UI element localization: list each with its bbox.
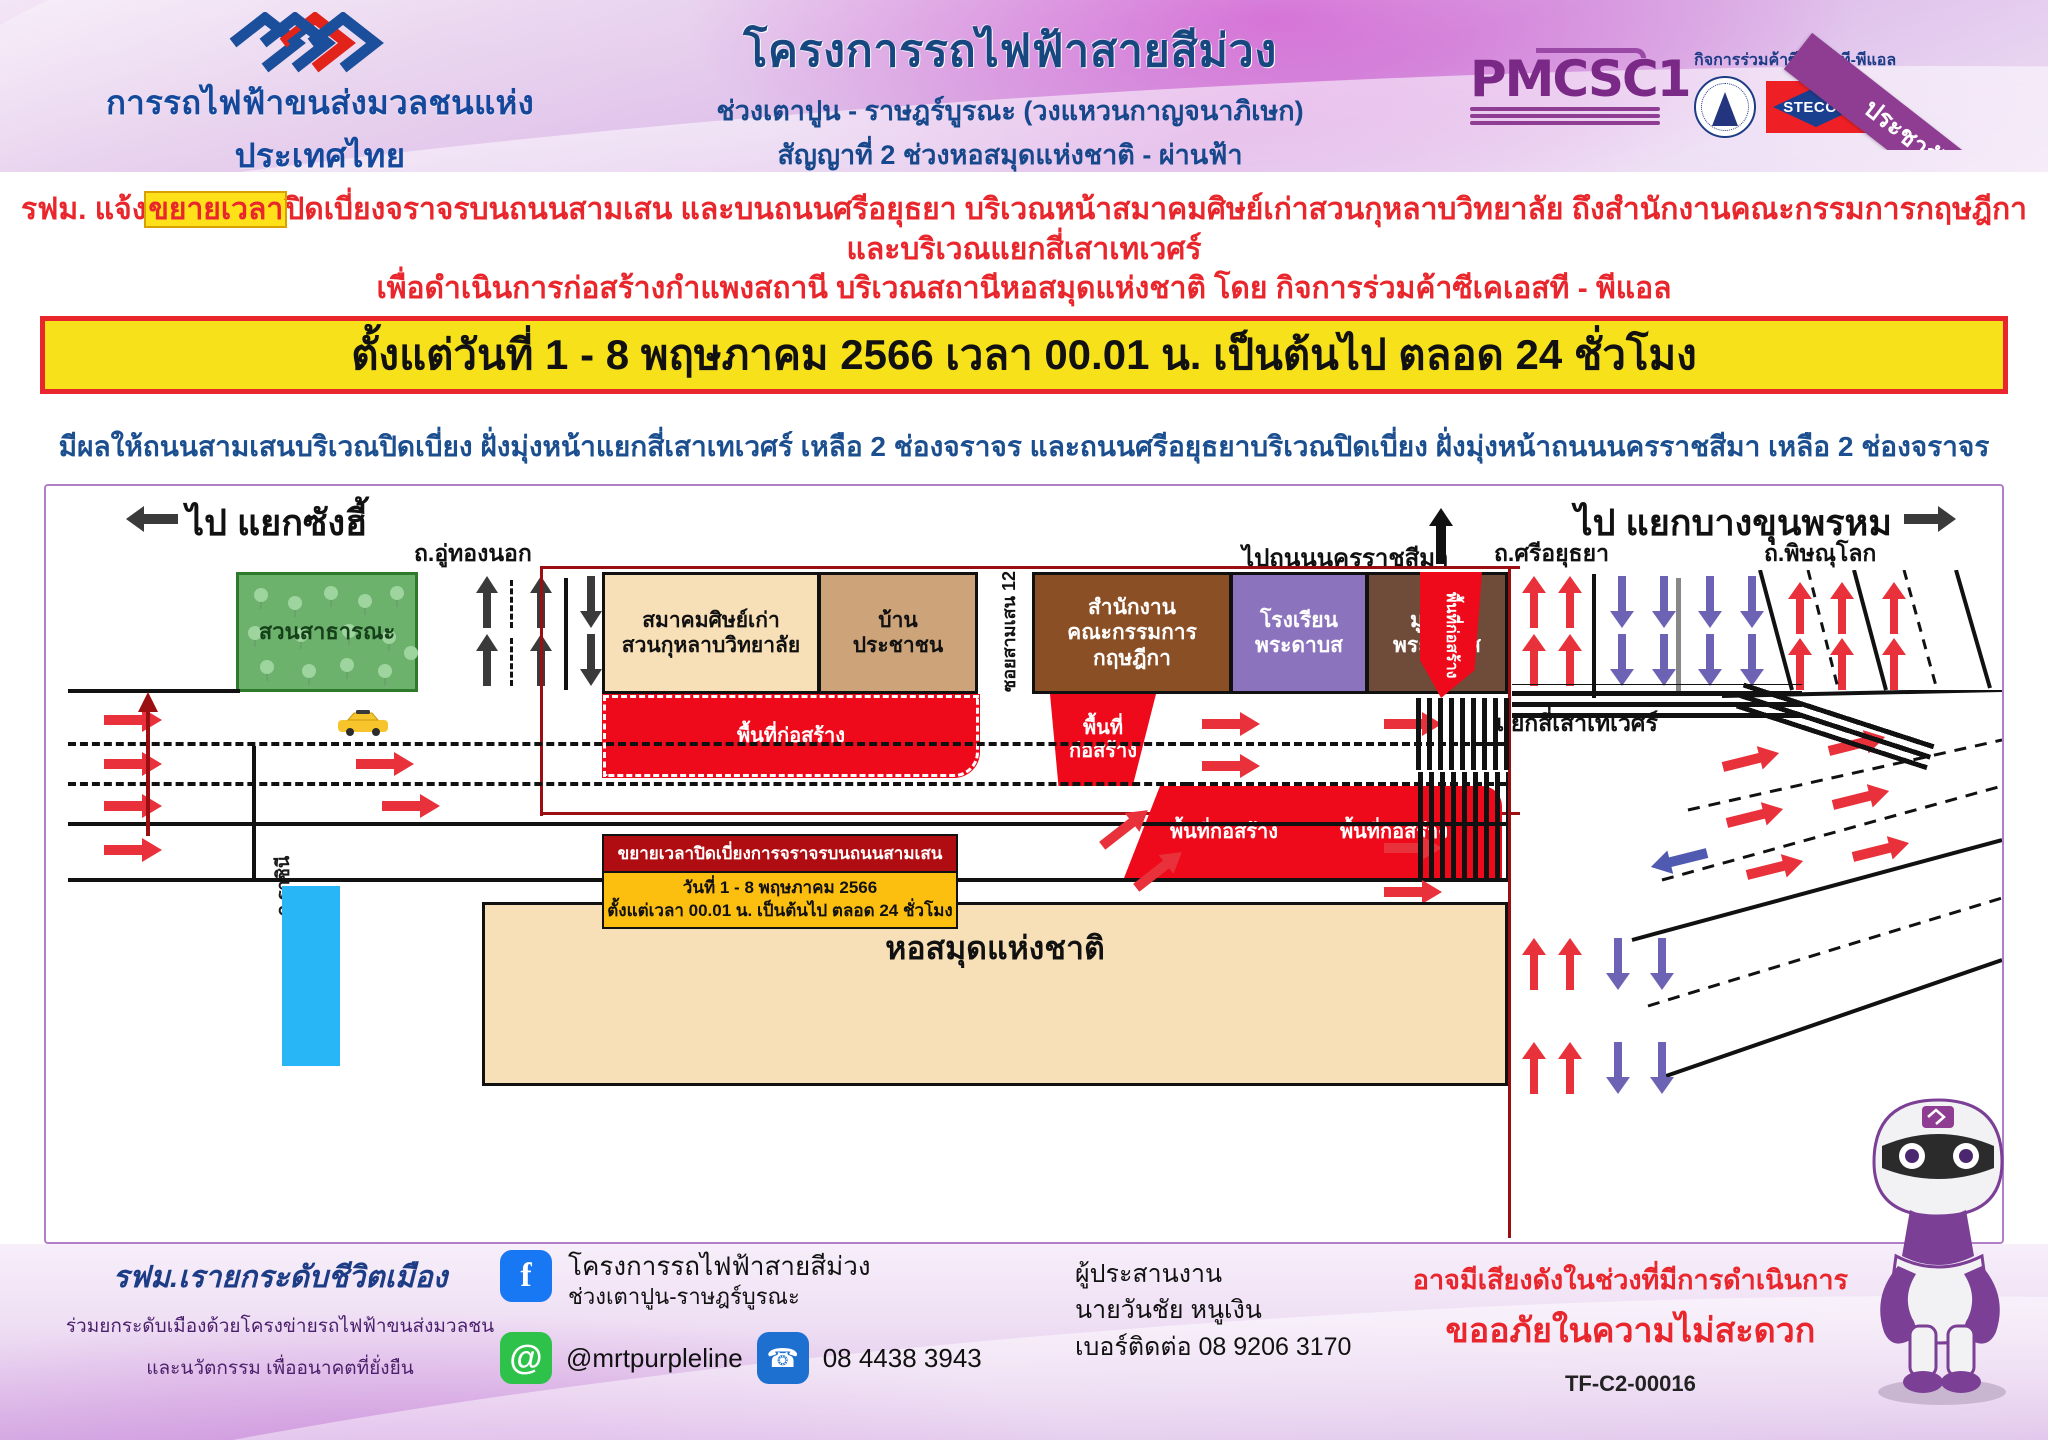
ratwithi-arrow-down-4 [1650, 1042, 1674, 1094]
crosswalk-4 [1418, 772, 1508, 880]
sriayutthaya-island [1676, 578, 1681, 692]
uthong-lane-divider-2 [510, 638, 513, 686]
building-label-line-2: คณะกรรมการ [1067, 620, 1197, 645]
samsen-lane-dash-1 [68, 742, 1188, 746]
traffic-arrow-red-4 [104, 838, 162, 862]
arrow-up-icon [1429, 508, 1453, 564]
footer-apology-block: อาจมีเสียงดังในช่วงที่มีการดำเนินการ ขออ… [1413, 1258, 1848, 1397]
footer-coordinator-block: ผู้ประสานงาน นายวันชัย หนูเงิน เบอร์ติดต… [1075, 1256, 1351, 1365]
notice-line-2: เพื่อดำเนินการก่อสร้างกำแพงสถานี บริเวณส… [0, 269, 2048, 309]
coordinator-phone[interactable]: เบอร์ติดต่อ 08 9206 3170 [1075, 1329, 1351, 1365]
callout-body: วันที่ 1 - 8 พฤษภาคม 2566 ตั้งแต่เวลา 00… [602, 873, 958, 929]
sriayutthaya-arrow-up-3 [1522, 634, 1546, 686]
building-label-line-1: สำนักงาน [1088, 595, 1176, 620]
sriayutthaya-arrow-down-3 [1698, 576, 1722, 628]
mrta-emblem-icon [70, 12, 570, 74]
project-title-block: โครงการรถไฟฟ้าสายสีม่วง ช่วงเตาปูน - ราษ… [620, 14, 1400, 172]
footer-slogan-block: รฟม.เรายกระดับชีวิตเมือง ร่วมยกระดับเมือ… [40, 1254, 520, 1383]
phone-icon[interactable]: ☎ [757, 1332, 809, 1384]
ratwithi-arrow-up-3 [1522, 1042, 1546, 1094]
taxi-icon [336, 710, 390, 736]
crosswalk-1 [1416, 698, 1510, 770]
building-label-line-3: กฤษฎีกา [1093, 646, 1171, 671]
apology-line-2: ขออภัยในความไม่สะดวก [1413, 1303, 1848, 1357]
road-label-uthongnok: ถ.อู่ทองนอก [414, 536, 532, 572]
sriayutthaya-arrow-down-5 [1610, 634, 1634, 686]
arrow-right-icon [1904, 506, 1956, 532]
notice-post: ปิดเบี่ยงจราจรบนถนนสามเสน และบนถนนศรีอยุ… [285, 193, 2027, 266]
pmcsc-wordmark: PMCSC1 [1470, 54, 1660, 104]
footer-slogan-sub-1: ร่วมยกระดับเมืองด้วยโครงข่ายรถไฟฟ้าขนส่ง… [40, 1311, 520, 1341]
soi-samsen-12-label: ซอยสามเสน 12 [994, 570, 1023, 692]
notice-text: รฟม. แจ้งขยายเวลาปิดเบี่ยงจราจรบนถนนสามเ… [0, 190, 2048, 309]
public-relations-ribbon: ประชาสัมพันธ์ [1778, 0, 2048, 150]
project-title: โครงการรถไฟฟ้าสายสีม่วง [620, 14, 1400, 86]
building-council-of-state: สำนักงาน คณะกรรมการ กฤษฎีกา [1032, 572, 1232, 694]
facebook-row[interactable]: f โครงการรถไฟฟ้าสายสีม่วง ช่วงเตาปูน-ราษ… [500, 1250, 982, 1310]
sriayutthaya-arrow-down-2 [1652, 576, 1676, 628]
sriayutthaya-arrow-down-6 [1652, 634, 1676, 686]
building-label-line-1: สมาคมศิษย์เก่า [642, 608, 780, 633]
samsen-solid-line-1 [68, 822, 1188, 826]
public-park-block: สวนสาธารณะ [236, 572, 418, 692]
mrta-mascot [1830, 1070, 2030, 1410]
callout-stem [146, 706, 150, 836]
arrow-left-icon [126, 506, 178, 532]
line-at-icon[interactable]: @ [500, 1332, 552, 1384]
direction-left-label: ไป แยกซังฮี้ [186, 494, 367, 551]
pmcsc-underbars [1470, 107, 1660, 125]
lane-impact-note: มีผลให้ถนนสามเสนบริเวณปิดเบี่ยง ฝั่งมุ่ง… [0, 425, 2048, 469]
traffic-arrow-red-6 [382, 794, 440, 818]
ratwithi-arrow-up-1 [1522, 938, 1546, 990]
uthong-arrow-up-1 [476, 576, 498, 628]
ratwithi-arrow-up-4 [1558, 1042, 1582, 1094]
uthong-arrow-down-1 [580, 576, 602, 628]
ratwithi-arrow-down-2 [1650, 938, 1674, 990]
building-national-library: หอสมุดแห่งชาติ [482, 902, 1508, 1086]
notice-pre: รฟม. แจ้ง [21, 193, 146, 226]
mrta-name-thai: การรถไฟฟ้าขนส่งมวลชนแห่งประเทศไทย [70, 76, 570, 172]
coordinator-label: ผู้ประสานงาน [1075, 1256, 1351, 1292]
traffic-arrow-red-15 [1384, 880, 1442, 904]
date-banner: ตั้งแต่วันที่ 1 - 8 พฤษภาคม 2566 เวลา 00… [40, 316, 2008, 394]
facebook-page-name: โครงการรถไฟฟ้าสายสีม่วง [568, 1250, 871, 1283]
ratchini-road-edge [252, 746, 256, 882]
building-residences: บ้าน ประชาชน [818, 572, 978, 694]
ratchini-kerb [252, 878, 374, 882]
project-boundary-top [540, 566, 1520, 572]
coordinator-name: นายวันชัย หนูเงิน [1075, 1292, 1351, 1328]
project-subtitle-2: สัญญาที่ 2 ช่วงหอสมุดแห่งชาติ - ผ่านฟ้า [620, 133, 1400, 172]
hotline-number[interactable]: 08 4438 3943 [823, 1342, 982, 1375]
footer-slogan-sub-2: และนวัตกรรม เพื่ออนาคตที่ยั่งยืน [40, 1353, 520, 1383]
sriayutthaya-arrow-up-4 [1558, 634, 1582, 686]
sriayutthaya-arrow-down-1 [1610, 576, 1634, 628]
traffic-diversion-map: ไป แยกซังฮี้ ไป แยกบางขุนพรหม ไปถนนนครรา… [44, 484, 2004, 1244]
sriayutthaya-arrow-up-1 [1522, 576, 1546, 628]
building-label-line-1: โรงเรียน [1260, 608, 1338, 633]
park-label: สวนสาธารณะ [259, 619, 395, 645]
construction-zone-2: พื้นที่ ก่อสร้าง [1050, 694, 1156, 786]
zone-label-vertical: พื้นที่ก่อสร้าง [1442, 592, 1460, 678]
uthong-arrow-down-3 [580, 634, 602, 686]
canal-water [282, 886, 340, 1066]
phitsanulok-road-edges [1746, 570, 2004, 700]
page-header: การรถไฟฟ้าขนส่งมวลชนแห่งประเทศไทย Mass R… [0, 0, 2048, 172]
samsen-lane-dash-2 [68, 782, 1188, 786]
notice-highlight: ขยายเวลา [146, 193, 285, 226]
callout-arrow-icon [138, 692, 158, 712]
facebook-icon[interactable]: f [500, 1250, 552, 1302]
project-boundary-right [1508, 566, 1511, 1238]
pmcsc-logo: PMCSC1 [1470, 48, 1660, 128]
zone-label-line-1: พื้นที่ [1083, 717, 1123, 740]
library-label: หอสมุดแห่งชาติ [485, 929, 1505, 967]
line-id[interactable]: @mrtpurpleline [566, 1342, 743, 1375]
ratwithi-arrow-down-3 [1606, 1042, 1630, 1094]
callout-box: ขยายเวลาปิดเบี่ยงการจราจรบนถนนสามเสน วัน… [602, 834, 958, 929]
footer-slogan-main: รฟม.เรายกระดับชีวิตเมือง [40, 1254, 520, 1301]
building-label-line-2: พระดาบส [1255, 633, 1343, 658]
apology-line-1: อาจมีเสียงดังในช่วงที่มีการดำเนินการ [1413, 1258, 1848, 1301]
sriayutthaya-arrow-up-2 [1558, 576, 1582, 628]
project-boundary-left [540, 566, 543, 816]
traffic-arrow-red-2 [104, 752, 162, 776]
traffic-arrow-red-5 [356, 752, 414, 776]
samsen-solid-line-2a [68, 878, 254, 882]
uthong-arrow-up-3 [476, 634, 498, 686]
building-phradabos-school: โรงเรียน พระดาบส [1230, 572, 1368, 694]
uthong-centre-line [564, 578, 568, 690]
callout-line-1: วันที่ 1 - 8 พฤษภาคม 2566 [604, 877, 956, 900]
page-footer: รฟม.เรายกระดับชีวิตเมือง ร่วมยกระดับเมือ… [0, 1244, 2048, 1440]
facebook-page-sub: ช่วงเตาปูน-ราษฎร์บูรณะ [568, 1283, 871, 1311]
callout-line-2: ตั้งแต่เวลา 00.01 น. เป็นต้นไป ตลอด 24 ช… [604, 900, 956, 923]
traffic-arrow-red-12 [1202, 754, 1260, 778]
sriayutthaya-median [1592, 574, 1596, 698]
road-label-phitsanulok: ถ.พิษณุโลก [1764, 536, 1876, 572]
sriayutthaya-arrow-down-7 [1698, 634, 1722, 686]
traffic-arrow-red-3 [104, 794, 162, 818]
project-subtitle-1: ช่วงเตาปูน - ราษฎร์บูรณะ (วงแหวนกาญจนาภิ… [620, 89, 1400, 132]
building-label-line-2: สวนกุหลาบวิทยาลัย [622, 633, 800, 658]
ratwithi-arrow-down-1 [1606, 938, 1630, 990]
mrta-logo: การรถไฟฟ้าขนส่งมวลชนแห่งประเทศไทย Mass R… [70, 12, 570, 172]
uthong-lane-divider-1 [510, 580, 513, 628]
footer-social-block: f โครงการรถไฟฟ้าสายสีม่วง ช่วงเตาปูน-ราษ… [500, 1250, 982, 1384]
building-label-line-2: ประชาชน [853, 633, 944, 658]
construction-zone-1: พื้นที่ก่อสร้าง [602, 694, 980, 778]
building-label-line-1: บ้าน [878, 608, 917, 633]
building-alumni-association: สมาคมศิษย์เก่า สวนกุหลาบวิทยาลัย [602, 572, 820, 694]
ck-seal-icon [1694, 76, 1756, 138]
line-and-phone-row: @ @mrtpurpleline ☎ 08 4438 3943 [500, 1332, 982, 1384]
traffic-arrow-red-11 [1202, 712, 1260, 736]
ribbon-label: ประชาสัมพันธ์ [1784, 33, 2048, 150]
ratwithi-arrow-up-2 [1558, 938, 1582, 990]
callout-title: ขยายเวลาปิดเบี่ยงการจราจรบนถนนสามเสน [602, 834, 958, 873]
document-code: TF-C2-00016 [1413, 1371, 1848, 1397]
